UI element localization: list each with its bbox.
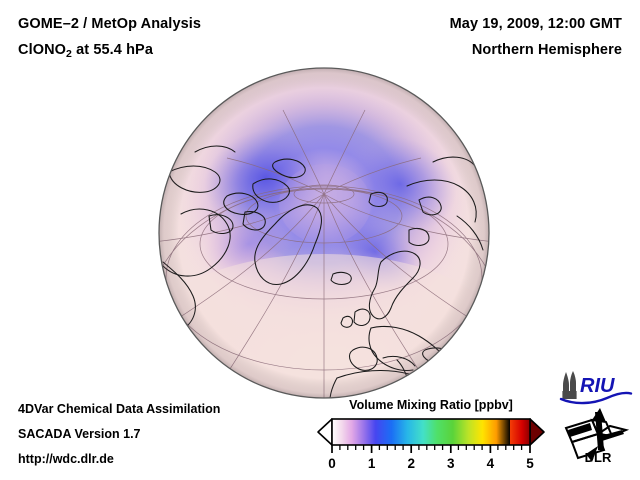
colorbar-tick-2: 2: [407, 456, 415, 471]
riu-wordmark: RIU: [580, 375, 615, 397]
dlr-logo: DLR: [562, 406, 634, 464]
colorbar: Volume Mixing Ratio [ppbv]: [306, 398, 556, 470]
pressure-level: at 55.4 hPa: [72, 42, 153, 58]
hemisphere-label: Northern Hemisphere: [472, 42, 622, 58]
page-title: GOME–2 / MetOp Analysis: [18, 16, 201, 32]
riu-logo: RIU: [559, 371, 633, 405]
method-label: 4DVar Chemical Data Assimilation: [18, 402, 220, 416]
colorbar-tick-labels: 0 1 2 3 4 5: [328, 456, 534, 471]
limb-shading: [159, 68, 489, 398]
colorbar-svg: 0 1 2 3 4 5: [306, 417, 556, 471]
dlr-wordmark: DLR: [585, 450, 612, 464]
colorbar-tick-0: 0: [328, 456, 336, 471]
colorbar-tick-5: 5: [526, 456, 534, 471]
visualization-canvas: GOME–2 / MetOp Analysis ClONO2 at 55.4 h…: [0, 0, 640, 480]
colorbar-min-arrow: [318, 419, 332, 445]
colorbar-tick-3: 3: [447, 456, 455, 471]
colorbar-max-arrow: [530, 419, 544, 445]
colorbar-ticks: [332, 445, 530, 453]
colorbar-title: Volume Mixing Ratio [ppbv]: [306, 398, 556, 412]
version-label: SACADA Version 1.7: [18, 427, 141, 441]
website-link[interactable]: http://wdc.dlr.de: [18, 452, 114, 466]
globe-map: [157, 66, 491, 400]
globe-svg: [157, 66, 491, 400]
colorbar-tick-1: 1: [368, 456, 376, 471]
timestamp-label: May 19, 2009, 12:00 GMT: [450, 16, 622, 32]
species-name: ClONO: [18, 42, 66, 58]
species-level-label: ClONO2 at 55.4 hPa: [18, 42, 153, 60]
colorbar-gradient: [332, 419, 530, 445]
cathedral-towers-icon: [562, 371, 576, 399]
colorbar-tick-4: 4: [487, 456, 495, 471]
